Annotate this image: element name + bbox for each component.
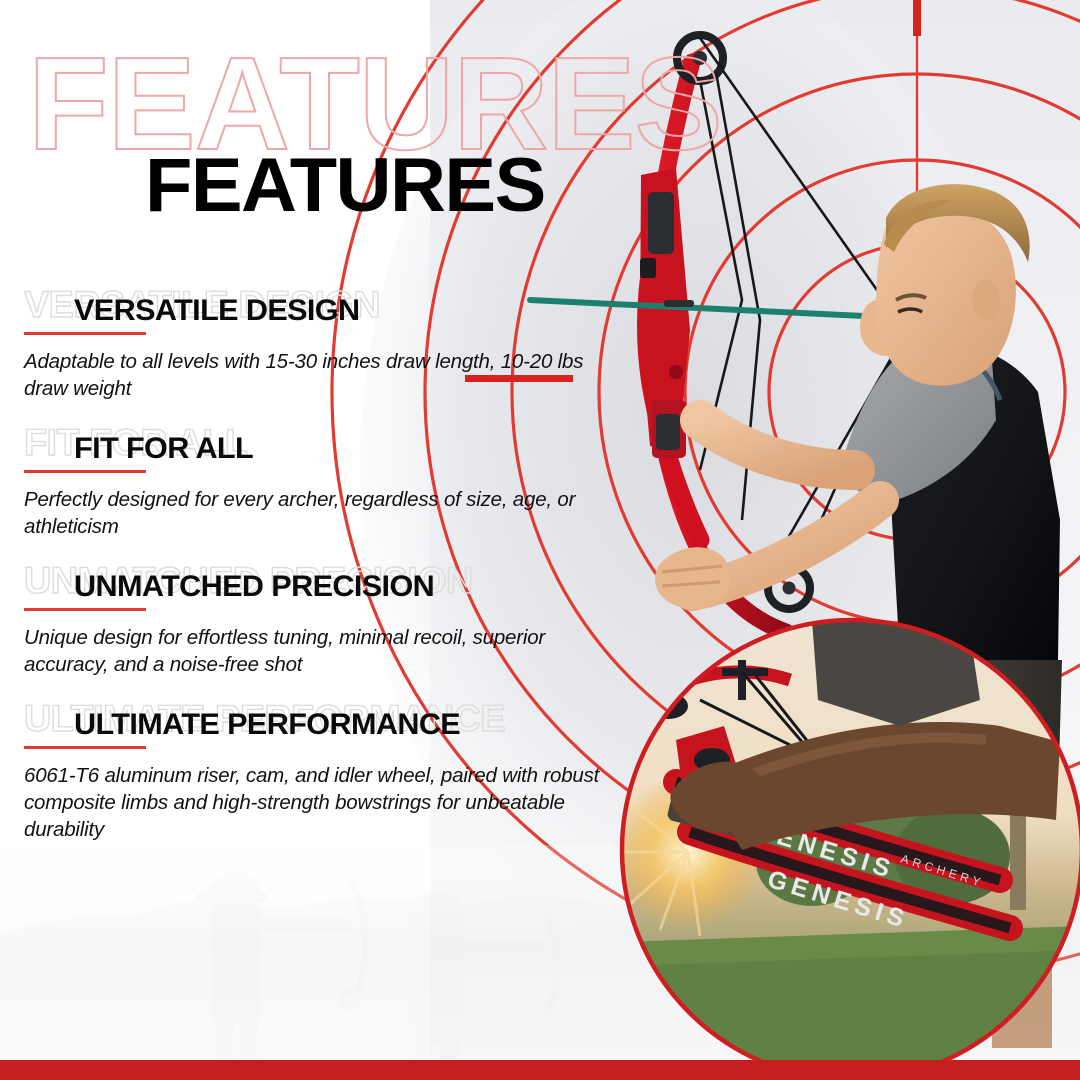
feature-underline [24, 608, 146, 611]
bottom-red-bar [0, 1060, 1080, 1080]
infographic-canvas: GENESIS ARCHERY GENESIS [0, 0, 1080, 1080]
feature-heading-wrap: FIT FOR ALL FIT FOR ALL [24, 426, 640, 472]
feature-body: Perfectly designed for every archer, reg… [24, 486, 624, 540]
top-red-tick [913, 0, 921, 36]
feature-item: VERSATILE DESIGN VERSATILE DESIGN Adapta… [0, 288, 640, 402]
page-title: FEATURES FEATURES [0, 38, 760, 208]
feature-heading-wrap: ULTIMATE PERFORMANCE ULTIMATE PERFORMANC… [24, 702, 640, 748]
feature-item: ULTIMATE PERFORMANCE ULTIMATE PERFORMANC… [0, 702, 640, 843]
feature-heading: ULTIMATE PERFORMANCE [74, 710, 460, 740]
page-title-text: FEATURES [145, 148, 545, 224]
features-list: VERSATILE DESIGN VERSATILE DESIGN Adapta… [0, 288, 640, 867]
feature-body: Unique design for effortless tuning, min… [24, 624, 624, 678]
feature-heading: FIT FOR ALL [74, 434, 253, 464]
feature-body: Adaptable to all levels with 15-30 inche… [24, 348, 624, 402]
feature-heading: UNMATCHED PRECISION [74, 572, 434, 602]
feature-item: UNMATCHED PRECISION UNMATCHED PRECISION … [0, 564, 640, 678]
feature-item: FIT FOR ALL FIT FOR ALL Perfectly design… [0, 426, 640, 540]
feature-underline [24, 746, 146, 749]
feature-underline [24, 470, 146, 473]
feature-heading-wrap: VERSATILE DESIGN VERSATILE DESIGN [24, 288, 640, 334]
feature-body: 6061-T6 aluminum riser, cam, and idler w… [24, 762, 624, 843]
feature-underline [24, 332, 146, 335]
feature-heading: VERSATILE DESIGN [74, 296, 359, 326]
feature-heading-wrap: UNMATCHED PRECISION UNMATCHED PRECISION [24, 564, 640, 610]
